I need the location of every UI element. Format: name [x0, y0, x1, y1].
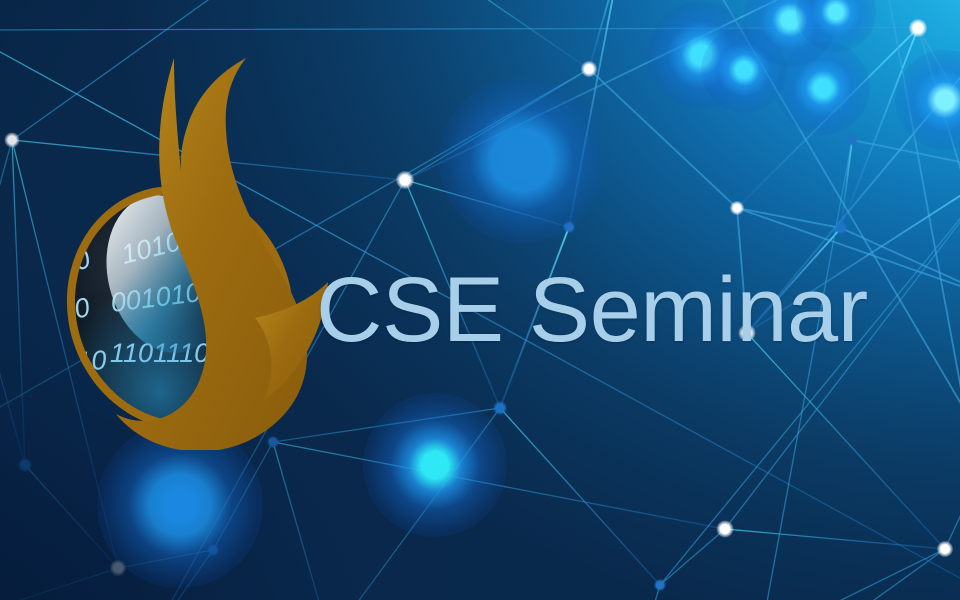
cse-logo: 1 10 1010110 10 00101010 010 11011100 01…	[50, 50, 340, 450]
cse-seminar-banner: 1 10 1010110 10 00101010 010 11011100 01…	[0, 0, 960, 600]
page-title: CSE Seminar	[316, 264, 868, 356]
